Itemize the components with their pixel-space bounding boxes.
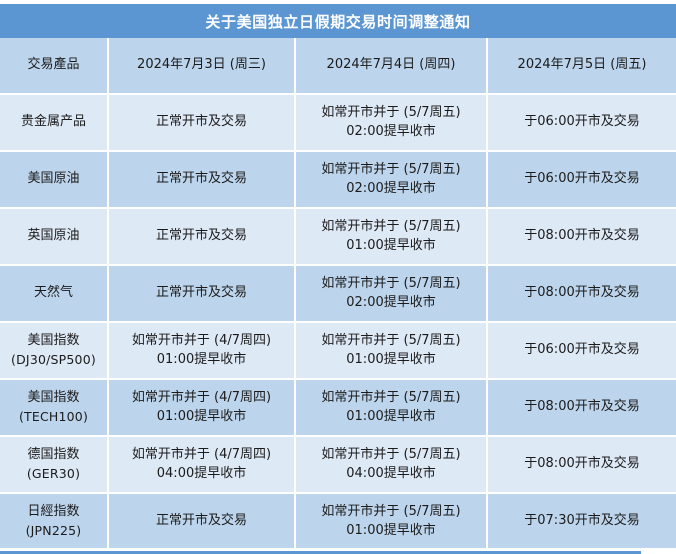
product-name: 天然气 <box>3 284 104 302</box>
column-header-product: 交易產品 <box>0 38 108 94</box>
day3-line1: 于06:00开市及交易 <box>491 341 673 359</box>
product-name: 美国原油 <box>3 170 104 188</box>
cell-day2: 如常开市并于 (5/7周五) 02:00提早收市 <box>295 94 487 151</box>
column-header-day1: 2024年7月3日 (周三) <box>108 38 295 94</box>
cell-day1: 正常开市及交易 <box>108 265 295 322</box>
cell-day2: 如常开市并于 (5/7周五) 01:00提早收市 <box>295 322 487 379</box>
table-row: 日經指数 (JPN225) 正常开市及交易 如常开市并于 (5/7周五) 01:… <box>0 493 676 550</box>
cell-day2: 如常开市并于 (5/7周五) 01:00提早收市 <box>295 493 487 550</box>
table-row: 天然气 正常开市及交易 如常开市并于 (5/7周五) 02:00提早收市 于08… <box>0 265 676 322</box>
day2-line2: 01:00提早收市 <box>299 408 483 426</box>
day1-line2: 01:00提早收市 <box>112 408 291 426</box>
cell-product: 日經指数 (JPN225) <box>0 493 108 550</box>
table-row: 贵金属产品 正常开市及交易 如常开市并于 (5/7周五) 02:00提早收市 于… <box>0 94 676 151</box>
cell-product: 美国指数 (DJ30/SP500) <box>0 322 108 379</box>
day2-line2: 04:00提早收市 <box>299 465 483 483</box>
cell-day3: 于08:00开市及交易 <box>487 436 676 493</box>
day2-line1: 如常开市并于 (5/7周五) <box>299 104 483 122</box>
column-header-day3: 2024年7月5日 (周五) <box>487 38 676 94</box>
table-row: 美国指数 (DJ30/SP500) 如常开市并于 (4/7周四) 01:00提早… <box>0 322 676 379</box>
cell-day1: 正常开市及交易 <box>108 208 295 265</box>
cell-day2: 如常开市并于 (5/7周五) 02:00提早收市 <box>295 265 487 322</box>
cell-day1: 如常开市并于 (4/7周四) 01:00提早收市 <box>108 379 295 436</box>
day2-line2: 01:00提早收市 <box>299 237 483 255</box>
day2-line2: 01:00提早收市 <box>299 351 483 369</box>
product-code: (JPN225) <box>3 522 104 540</box>
day2-line2: 02:00提早收市 <box>299 180 483 198</box>
day2-line2: 02:00提早收市 <box>299 123 483 141</box>
day1-line1: 如常开市并于 (4/7周四) <box>112 446 291 464</box>
product-code: (GER30) <box>3 465 104 483</box>
table-row: 美国指数 (TECH100) 如常开市并于 (4/7周四) 01:00提早收市 … <box>0 379 676 436</box>
day1-line1: 正常开市及交易 <box>112 284 291 302</box>
cell-product: 贵金属产品 <box>0 94 108 151</box>
table-row: 德国指数 (GER30) 如常开市并于 (4/7周四) 04:00提早收市 如常… <box>0 436 676 493</box>
cell-day1: 正常开市及交易 <box>108 94 295 151</box>
day1-line1: 正常开市及交易 <box>112 113 291 131</box>
cell-day1: 如常开市并于 (4/7周四) 04:00提早收市 <box>108 436 295 493</box>
day2-line1: 如常开市并于 (5/7周五) <box>299 389 483 407</box>
cell-day3: 于06:00开市及交易 <box>487 151 676 208</box>
product-name: 美国指数 <box>3 389 104 407</box>
day1-line1: 如常开市并于 (4/7周四) <box>112 332 291 350</box>
product-name: 英国原油 <box>3 227 104 245</box>
table-row: 英国原油 正常开市及交易 如常开市并于 (5/7周五) 01:00提早收市 于0… <box>0 208 676 265</box>
day2-line1: 如常开市并于 (5/7周五) <box>299 332 483 350</box>
day3-line1: 于08:00开市及交易 <box>491 398 673 416</box>
table-body: 贵金属产品 正常开市及交易 如常开市并于 (5/7周五) 02:00提早收市 于… <box>0 94 676 550</box>
day1-line1: 正常开市及交易 <box>112 170 291 188</box>
cell-day3: 于06:00开市及交易 <box>487 322 676 379</box>
table-row: 美国原油 正常开市及交易 如常开市并于 (5/7周五) 02:00提早收市 于0… <box>0 151 676 208</box>
cell-day2: 如常开市并于 (5/7周五) 02:00提早收市 <box>295 151 487 208</box>
product-name: 日經指数 <box>3 503 104 521</box>
cell-day1: 如常开市并于 (4/7周四) 01:00提早收市 <box>108 322 295 379</box>
product-name: 德国指数 <box>3 446 104 464</box>
table-header: 交易產品 2024年7月3日 (周三) 2024年7月4日 (周四) 2024年… <box>0 38 676 94</box>
day1-line1: 正常开市及交易 <box>112 227 291 245</box>
day2-line2: 02:00提早收市 <box>299 294 483 312</box>
day3-line1: 于08:00开市及交易 <box>491 227 673 245</box>
day3-line1: 于06:00开市及交易 <box>491 113 673 131</box>
column-header-day2: 2024年7月4日 (周四) <box>295 38 487 94</box>
notice-title-bar: 关于美国独立日假期交易时间调整通知 <box>0 4 676 38</box>
cell-day3: 于06:00开市及交易 <box>487 94 676 151</box>
day1-line2: 01:00提早收市 <box>112 351 291 369</box>
product-name: 美国指数 <box>3 332 104 350</box>
cell-product: 英国原油 <box>0 208 108 265</box>
cell-day1: 正常开市及交易 <box>108 493 295 550</box>
day2-line2: 01:00提早收市 <box>299 522 483 540</box>
day1-line2: 04:00提早收市 <box>112 465 291 483</box>
day2-line1: 如常开市并于 (5/7周五) <box>299 161 483 179</box>
cell-day3: 于08:00开市及交易 <box>487 265 676 322</box>
trading-hours-notice: 关于美国独立日假期交易时间调整通知 交易產品 2024年7月3日 (周三) 20… <box>0 0 676 554</box>
page-title: 关于美国独立日假期交易时间调整通知 <box>205 11 470 32</box>
cell-day1: 正常开市及交易 <box>108 151 295 208</box>
cell-day2: 如常开市并于 (5/7周五) 01:00提早收市 <box>295 208 487 265</box>
day2-line1: 如常开市并于 (5/7周五) <box>299 503 483 521</box>
day3-line1: 于06:00开市及交易 <box>491 170 673 188</box>
day2-line1: 如常开市并于 (5/7周五) <box>299 446 483 464</box>
product-code: (DJ30/SP500) <box>3 351 104 369</box>
cell-product: 美国指数 (TECH100) <box>0 379 108 436</box>
cell-day3: 于08:00开市及交易 <box>487 208 676 265</box>
cell-product: 美国原油 <box>0 151 108 208</box>
day1-line1: 如常开市并于 (4/7周四) <box>112 389 291 407</box>
cell-day3: 于08:00开市及交易 <box>487 379 676 436</box>
day3-line1: 于07:30开市及交易 <box>491 512 673 530</box>
cell-day2: 如常开市并于 (5/7周五) 01:00提早收市 <box>295 379 487 436</box>
day2-line1: 如常开市并于 (5/7周五) <box>299 275 483 293</box>
day2-line1: 如常开市并于 (5/7周五) <box>299 218 483 236</box>
product-name: 贵金属产品 <box>3 113 104 131</box>
cell-product: 德国指数 (GER30) <box>0 436 108 493</box>
cell-day3: 于07:30开市及交易 <box>487 493 676 550</box>
day1-line1: 正常开市及交易 <box>112 512 291 530</box>
trading-schedule-table: 交易產品 2024年7月3日 (周三) 2024年7月4日 (周四) 2024年… <box>0 38 676 551</box>
cell-product: 天然气 <box>0 265 108 322</box>
header-row: 交易產品 2024年7月3日 (周三) 2024年7月4日 (周四) 2024年… <box>0 38 676 94</box>
cell-day2: 如常开市并于 (5/7周五) 04:00提早收市 <box>295 436 487 493</box>
day3-line1: 于08:00开市及交易 <box>491 455 673 473</box>
day3-line1: 于08:00开市及交易 <box>491 284 673 302</box>
product-code: (TECH100) <box>3 408 104 426</box>
